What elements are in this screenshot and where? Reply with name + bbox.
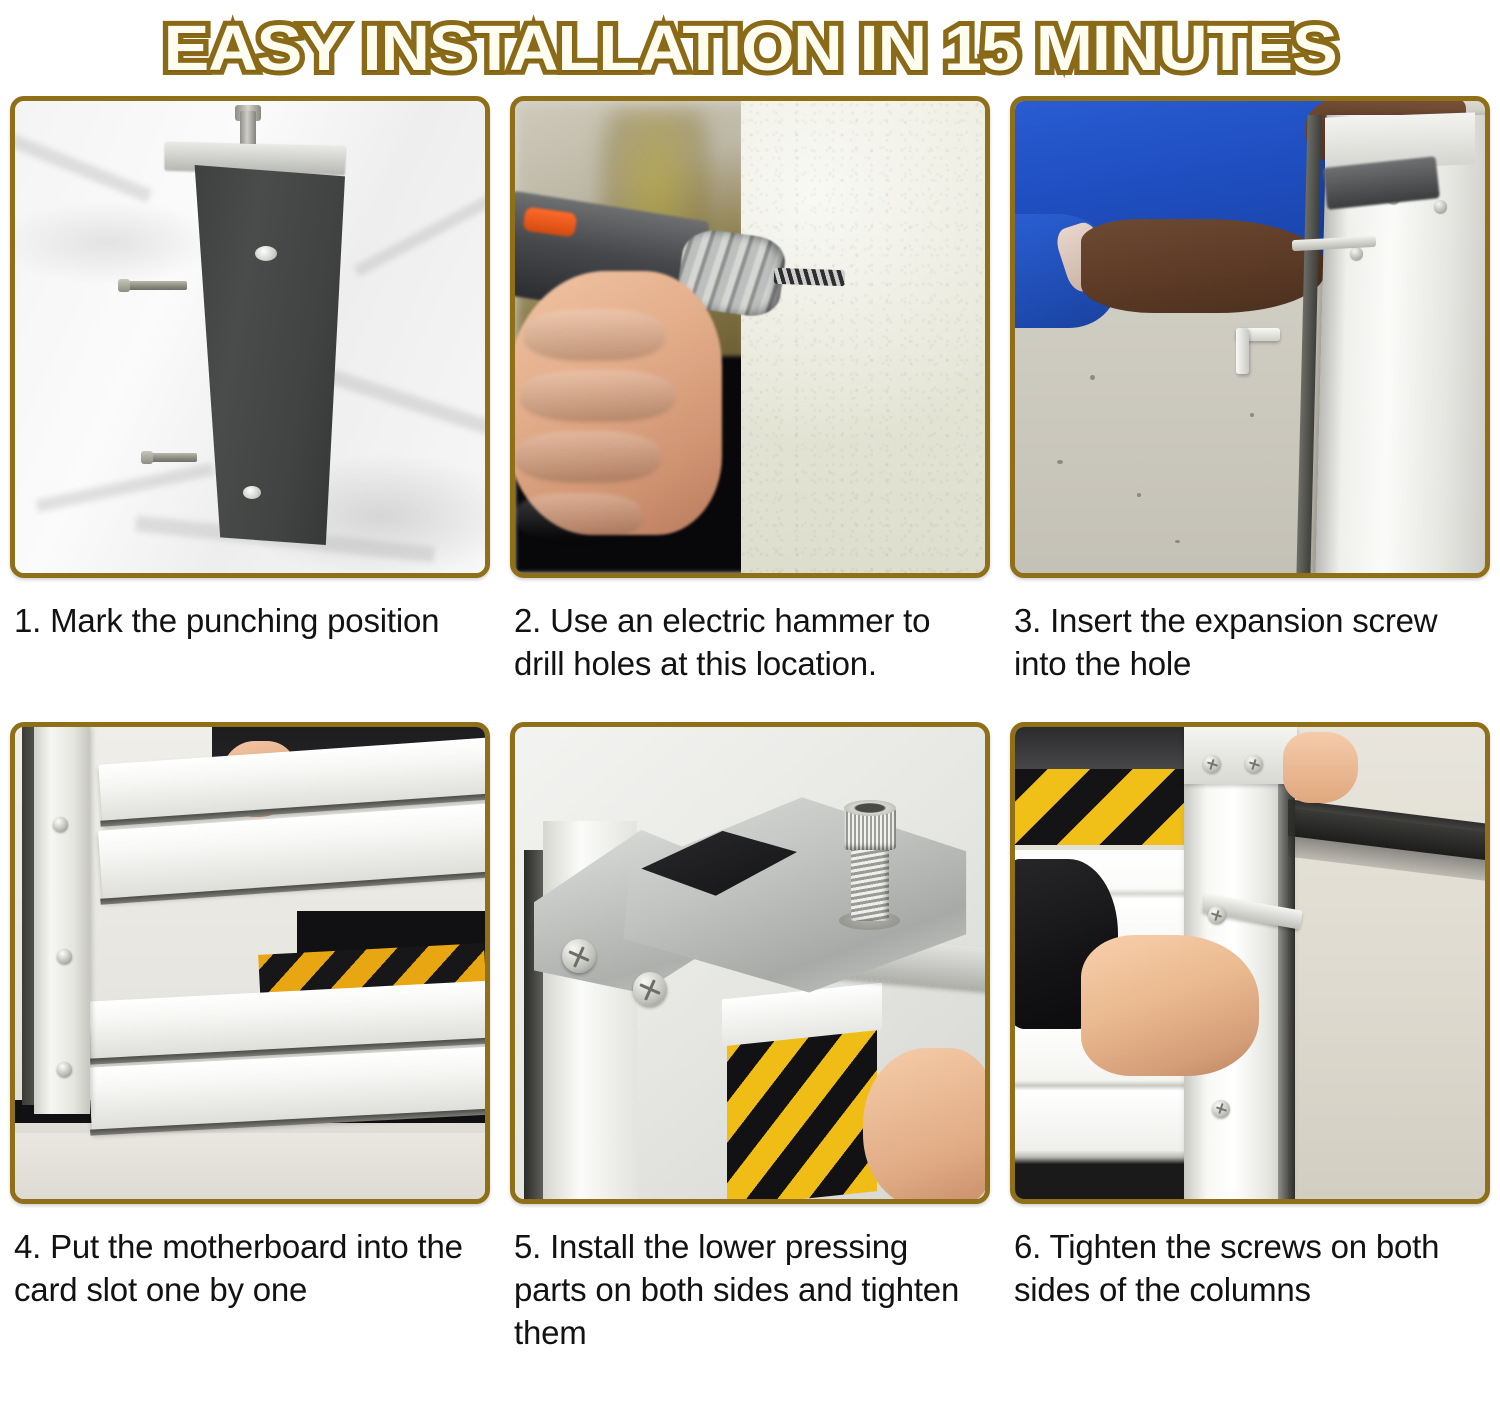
step-caption-2: 2. Use an electric hammer to drill holes…	[510, 578, 990, 722]
steps-row-top: 1. Mark the punching position	[0, 96, 1500, 722]
step-card-5: 5. Install the lower pressing parts on b…	[500, 722, 1000, 1376]
step-photo-3	[1015, 101, 1485, 573]
steps-row-bottom: 4. Put the motherboard into the card slo…	[0, 722, 1500, 1376]
step-photo-4	[15, 727, 485, 1199]
page-title: EASY INSTALLATION IN 15 MINUTES	[164, 16, 1337, 80]
step-card-3: 3. Insert the expansion screw into the h…	[1000, 96, 1500, 722]
installation-steps-grid: 1. Mark the punching position	[0, 96, 1500, 1376]
step-photo-frame-6	[1010, 722, 1490, 1204]
step-caption-6: 6. Tighten the screws on both sides of t…	[1010, 1204, 1490, 1376]
step-photo-6	[1015, 727, 1485, 1199]
step-photo-frame-4	[10, 722, 490, 1204]
step-photo-frame-1	[10, 96, 490, 578]
step-photo-1	[15, 101, 485, 573]
step-photo-frame-2	[510, 96, 990, 578]
step-caption-3: 3. Insert the expansion screw into the h…	[1010, 578, 1490, 722]
step-card-4: 4. Put the motherboard into the card slo…	[0, 722, 500, 1376]
step-photo-frame-5	[510, 722, 990, 1204]
step-caption-4: 4. Put the motherboard into the card slo…	[10, 1204, 490, 1376]
step-card-2: 2. Use an electric hammer to drill holes…	[500, 96, 1000, 722]
step-card-1: 1. Mark the punching position	[0, 96, 500, 722]
step-photo-5	[515, 727, 985, 1199]
step-caption-1: 1. Mark the punching position	[10, 578, 490, 722]
header-banner: EASY INSTALLATION IN 15 MINUTES	[0, 0, 1500, 96]
step-card-6: 6. Tighten the screws on both sides of t…	[1000, 722, 1500, 1376]
step-caption-5: 5. Install the lower pressing parts on b…	[510, 1204, 990, 1376]
step-photo-2	[515, 101, 985, 573]
step-photo-frame-3	[1010, 96, 1490, 578]
